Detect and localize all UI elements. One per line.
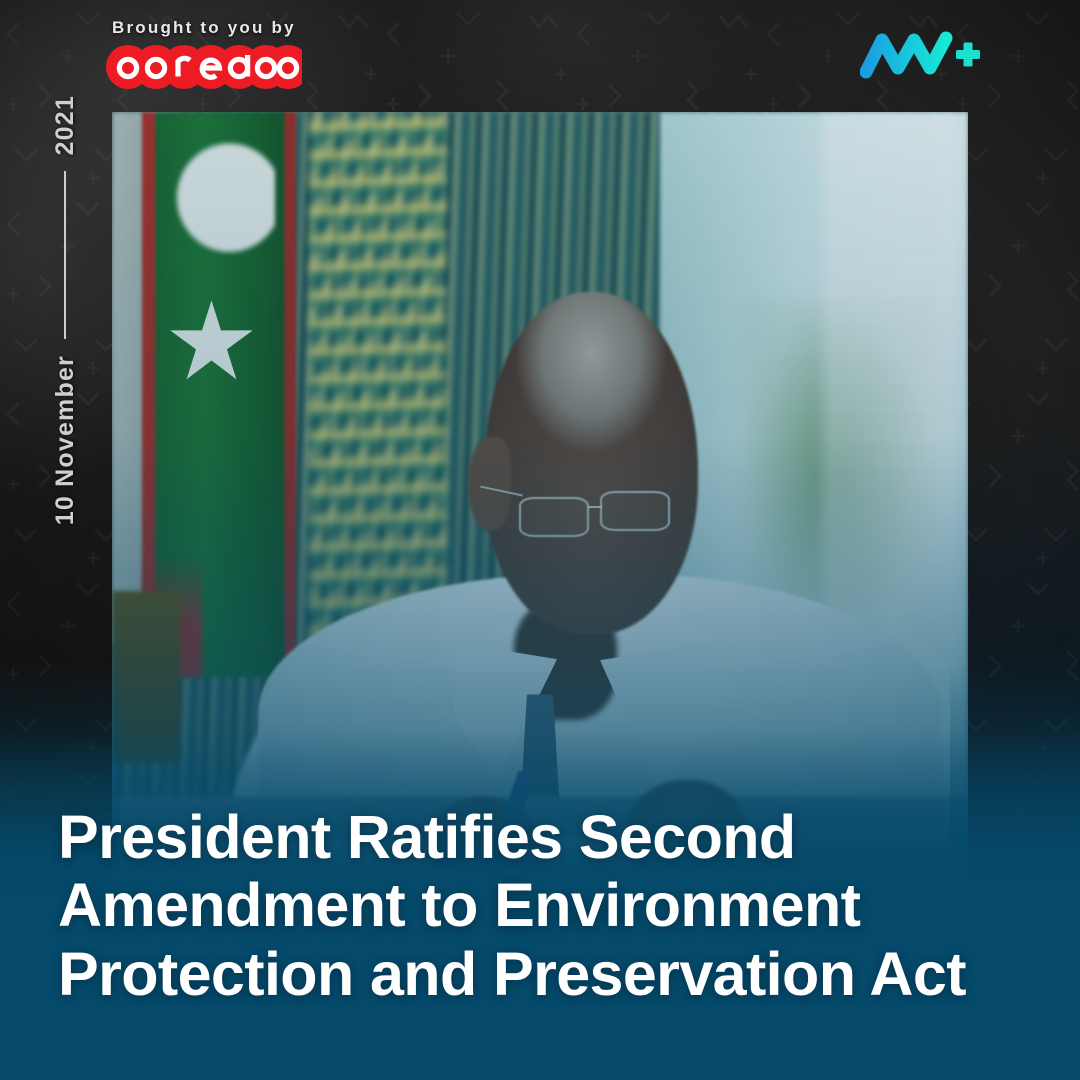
ooredoo-logo[interactable] xyxy=(106,45,302,94)
sponsor-kicker-label: Brought to you by xyxy=(112,18,296,38)
headline-text: President Ratifies Second Amendment to E… xyxy=(58,803,1040,1008)
date-divider-line xyxy=(64,171,66,338)
date-rail: 2021 10 November xyxy=(20,95,84,525)
sponsor-block: Brought to you by xyxy=(106,18,302,94)
date-year: 2021 xyxy=(51,95,80,155)
date-day-month: 10 November xyxy=(51,355,80,525)
mvplus-logo[interactable] xyxy=(860,28,980,85)
news-card: Brought to you by xyxy=(0,0,1080,1080)
